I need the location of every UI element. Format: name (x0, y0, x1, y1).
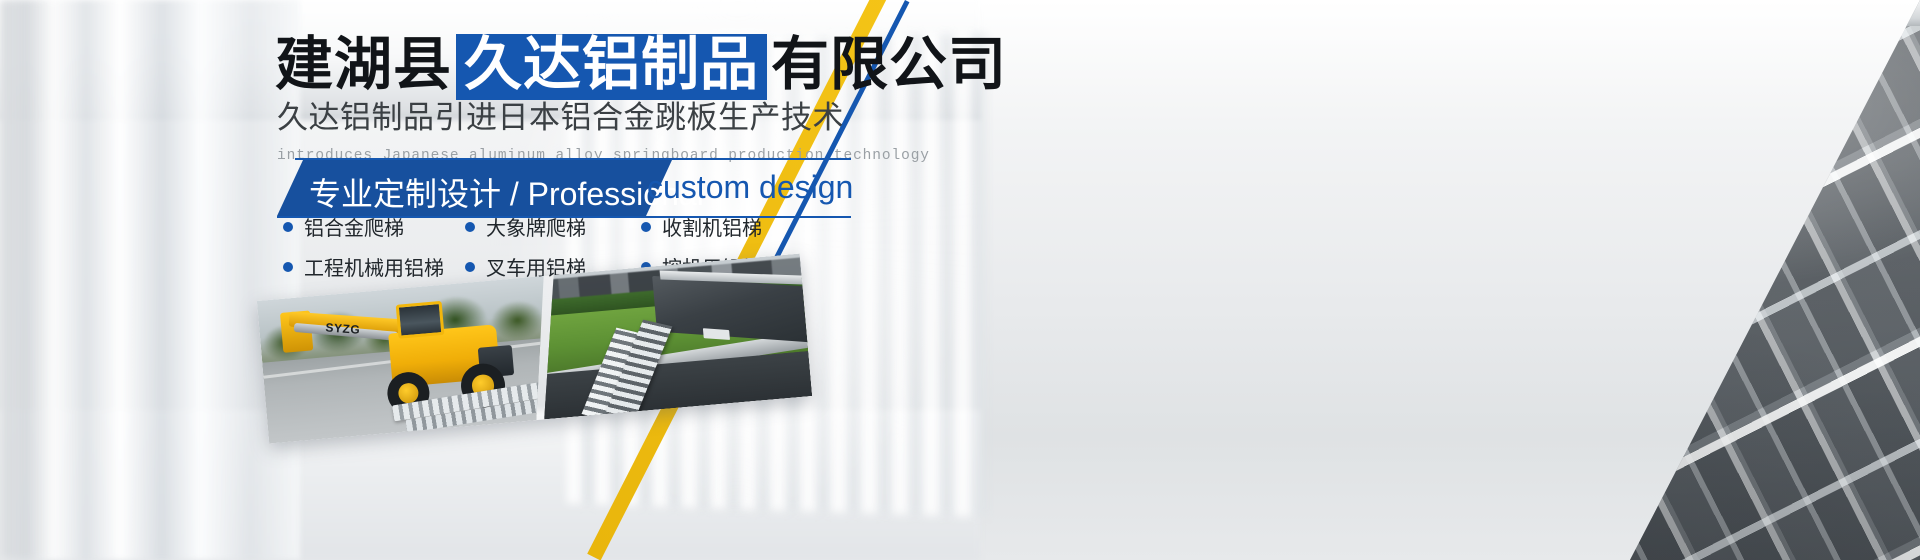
list-item: 工程机械用铝梯 (283, 252, 465, 281)
company-title-highlight: 久达铝制品 (456, 34, 767, 100)
subtitle-chinese: 久达铝制品引进日本铝合金跳板生产技术 (277, 92, 844, 137)
product-photo-loader: SYZG (257, 276, 556, 444)
ribbon-top-rule (295, 158, 851, 160)
company-title-prefix: 建湖县 (275, 36, 452, 94)
list-item-label: 工程机械用铝梯 (304, 252, 444, 281)
list-item-label: 铝合金爬梯 (304, 212, 404, 241)
company-title-suffix: 有限公司 (771, 36, 1007, 94)
truck-license-plate (703, 328, 730, 340)
loader-cab (396, 301, 445, 339)
list-item: 收割机铝梯 (641, 212, 762, 241)
ribbon-label-secondary: custom design (647, 169, 853, 206)
bullet-dot-icon (465, 222, 475, 232)
banner-content: 建湖县 久达铝制品 有限公司 久达铝制品引进日本铝合金跳板生产技术 introd… (0, 0, 920, 560)
bullet-dot-icon (641, 222, 651, 232)
list-item: 铝合金爬梯 (283, 212, 465, 241)
list-item-label: 收割机铝梯 (662, 212, 762, 241)
company-title: 建湖县 久达铝制品 有限公司 (275, 34, 1007, 100)
product-photo-truck-ramps (532, 254, 812, 420)
truck-flatbed (652, 276, 812, 343)
loader-brand-label: SYZG (325, 320, 361, 336)
tagline-ribbon: 专业定制设计 / Professional custom design (277, 158, 852, 218)
promo-banner: 建湖县 久达铝制品 有限公司 久达铝制品引进日本铝合金跳板生产技术 introd… (0, 0, 1920, 560)
product-list-row: 铝合金爬梯 大象牌爬梯 收割机铝梯 (283, 212, 903, 241)
bullet-dot-icon (283, 262, 293, 272)
bullet-dot-icon (465, 262, 475, 272)
list-item-label: 大象牌爬梯 (486, 212, 586, 241)
ribbon-label-primary: 专业定制设计 / Professional (309, 169, 704, 215)
list-item: 大象牌爬梯 (465, 212, 641, 241)
bullet-dot-icon (283, 222, 293, 232)
